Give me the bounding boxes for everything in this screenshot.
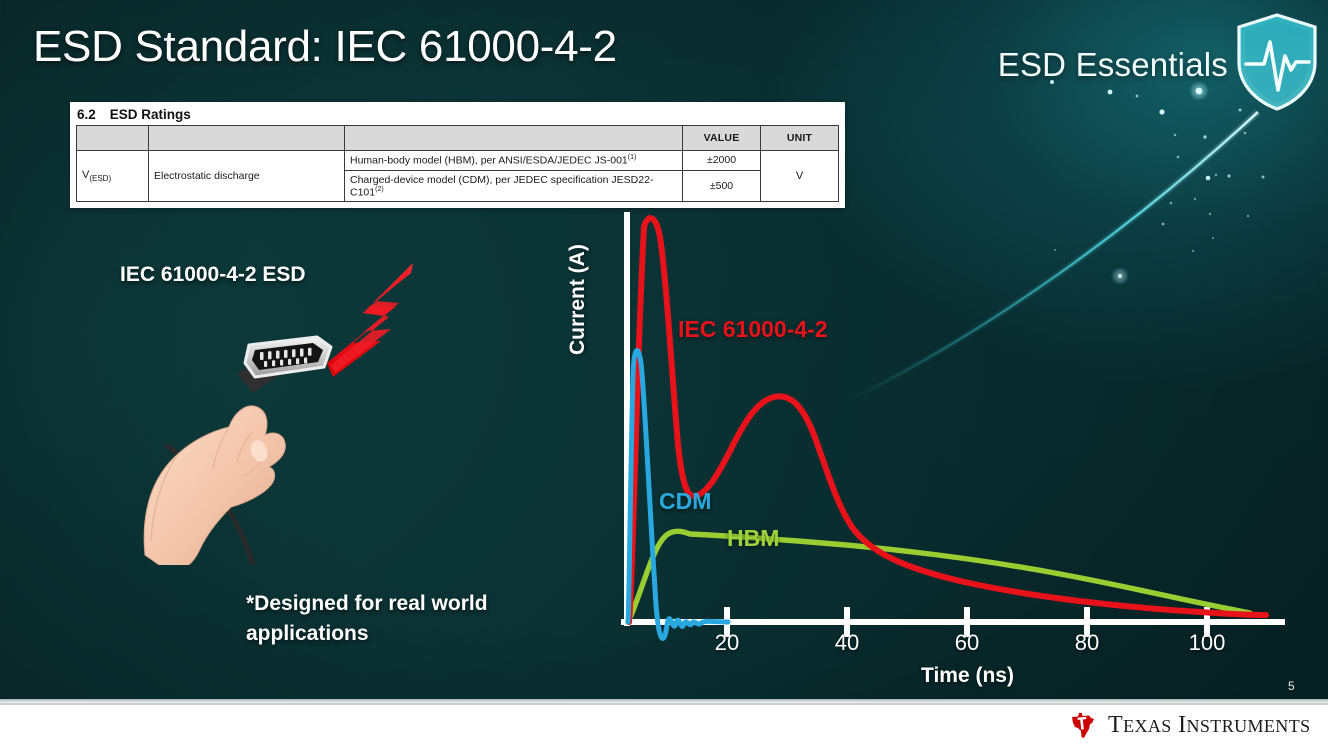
series-label-hbm: HBM: [727, 525, 779, 552]
x-tick-80: 80: [1075, 630, 1099, 656]
series-iec-line: [629, 218, 1266, 622]
brand-title: ESD Essentials: [998, 46, 1228, 84]
x-tick-100: 100: [1189, 630, 1226, 656]
brand-lockup: ESD Essentials: [998, 18, 1320, 112]
page-title: ESD Standard: IEC 61000-4-2: [33, 22, 617, 72]
unit-cell: V: [761, 151, 839, 202]
header-blank-2: [149, 126, 345, 151]
x-tick-60: 60: [955, 630, 979, 656]
section-number: 6.2: [77, 107, 96, 122]
ratings-grid: VALUE UNIT V(ESD) Electrostatic discharg…: [76, 125, 839, 202]
footnote-2: (2): [375, 186, 384, 193]
header-blank-3: [345, 126, 683, 151]
ti-word-nstruments: NSTRUMENTS: [1186, 716, 1310, 736]
table-row: V(ESD) Electrostatic discharge Human-bod…: [77, 151, 839, 171]
series-label-cdm: CDM: [659, 488, 711, 515]
slide-canvas: ESD Standard: IEC 61000-4-2 ESD Essentia…: [0, 0, 1328, 746]
header-value: VALUE: [683, 126, 761, 151]
value-cell-hbm: ±2000: [683, 151, 761, 171]
symbol-subscript: (ESD): [89, 174, 111, 183]
shield-pulse-icon: [1234, 12, 1320, 112]
esd-discharge-illustration: [95, 255, 440, 565]
hand-icon: [144, 406, 285, 565]
ti-word-t: T: [1108, 712, 1123, 738]
page-number: 5: [1288, 679, 1295, 693]
footnote-1: (1): [628, 154, 637, 161]
header-blank-1: [77, 126, 149, 151]
x-tick-20: 20: [715, 630, 739, 656]
section-title: ESD Ratings: [110, 107, 191, 122]
symbol-cell: V(ESD): [77, 151, 149, 202]
design-note: *Designed for real world applications: [246, 589, 546, 650]
x-tick-40: 40: [835, 630, 859, 656]
esd-waveform-chart: [560, 195, 1320, 695]
table-header-row: VALUE UNIT: [77, 126, 839, 151]
condition-cell-hbm: Human-body model (HBM), per ANSI/ESDA/JE…: [345, 151, 683, 171]
parameter-cell: Electrostatic discharge: [149, 151, 345, 202]
ti-wordmark: TEXAS INSTRUMENTS: [1108, 712, 1311, 739]
hdmi-connector-icon: [237, 337, 331, 393]
esd-ratings-table: 6.2 ESD Ratings VALUE UNIT V(ESD) Electr…: [70, 102, 845, 208]
texas-instruments-logo: TEXAS INSTRUMENTS: [1068, 710, 1311, 740]
series-label-iec: IEC 61000-4-2: [678, 316, 828, 343]
lightning-bolt-icon: [327, 263, 413, 377]
ti-word-exas: EXAS: [1123, 716, 1172, 736]
ti-texas-mark-icon: [1068, 710, 1098, 740]
table-caption: 6.2 ESD Ratings: [71, 103, 844, 125]
header-unit: UNIT: [761, 126, 839, 151]
chart-axes: [624, 215, 1282, 637]
condition-text-hbm: Human-body model (HBM), per ANSI/ESDA/JE…: [350, 155, 628, 167]
